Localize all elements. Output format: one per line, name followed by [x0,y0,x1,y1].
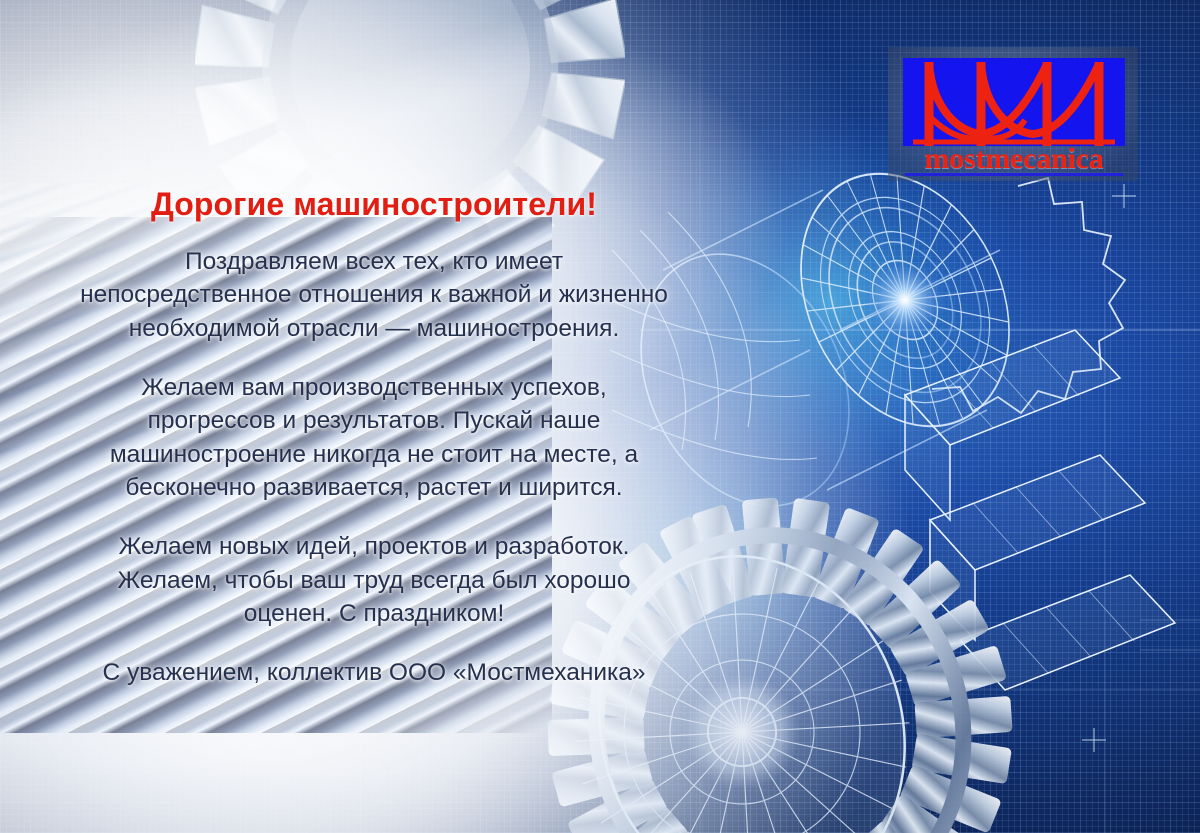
signature: С уважением, коллектив ООО «Мостмеханика… [0,656,748,689]
logo-wordmark: mostmecanica [898,144,1130,174]
page-title: Дорогие машиностроители! [0,186,748,223]
paragraph-1: Поздравляем всех тех, кто имеет непосред… [0,245,748,345]
company-logo[interactable]: mostmecanica [888,47,1138,181]
paragraph-1-line-3: необходимой отрасли — машиностроения. [0,312,748,345]
paragraph-1-line-1: Поздравляем всех тех, кто имеет [0,245,748,278]
paragraph-2-line-1: Желаем вам производственных успехов, [0,371,748,404]
paragraph-2-line-4: бесконечно развивается, растет и ширится… [0,471,748,504]
paragraph-3: Желаем новых идей, проектов и разработок… [0,530,748,630]
paragraph-1-line-2: непосредственное отношения к важной и жи… [0,278,748,311]
greeting-card: mostmecanica Дорогие машиностроители! По… [0,0,1200,833]
paragraph-2: Желаем вам производственных успехов, про… [0,371,748,504]
paragraph-3-line-3: оценен. С праздником! [0,597,748,630]
paragraph-2-line-2: прогрессов и результатов. Пускай наше [0,404,748,437]
suspension-bridge-emblem [903,58,1125,146]
greeting-message: Дорогие машиностроители! Поздравляем все… [0,186,748,689]
paragraph-2-line-3: машиностроение никогда не стоит на месте… [0,438,748,471]
logo-underline [905,173,1123,176]
paragraph-3-line-2: Желаем, чтобы ваш труд всегда был хорошо [0,564,748,597]
paragraph-3-line-1: Желаем новых идей, проектов и разработок… [0,530,748,563]
